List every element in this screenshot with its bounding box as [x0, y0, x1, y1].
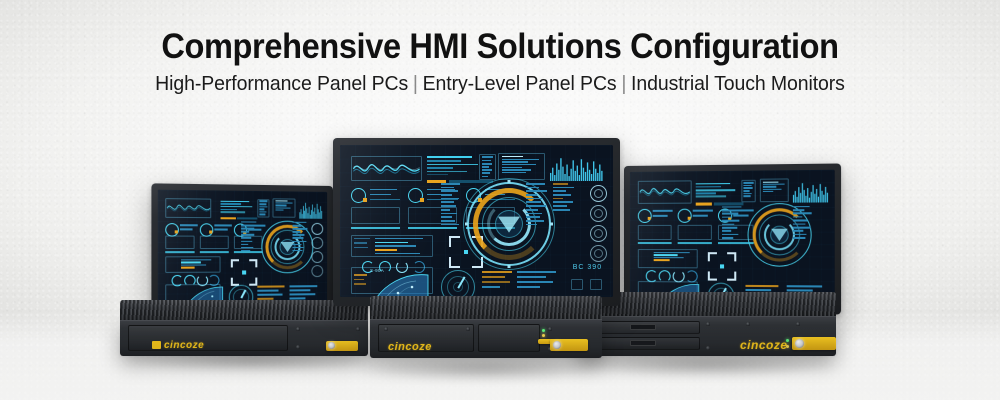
hud-gauge-2 — [200, 223, 229, 233]
left-panel-pc-chassis[interactable]: cincoze — [120, 300, 368, 356]
screw — [384, 327, 388, 331]
center-monitor-bezel: S-90A — [333, 138, 620, 306]
left-monitor-bezel — [151, 183, 333, 312]
left-monitor[interactable] — [151, 183, 333, 312]
page-subtitle: High-Performance Panel PCs|Entry-Level P… — [25, 72, 975, 96]
hud-dashboard-right — [630, 170, 835, 307]
page-title: Comprehensive HMI Solutions Configuratio… — [35, 28, 965, 65]
hud-bar-cluster-center — [427, 156, 479, 176]
center-front-face: cincoze — [370, 319, 602, 358]
shadow-center — [358, 356, 608, 382]
hud-icon-button-b[interactable] — [590, 279, 602, 290]
hud-bottom-table-center-b — [517, 271, 558, 288]
left-power-button[interactable] — [328, 342, 335, 349]
hud-waveform-panel — [165, 198, 212, 218]
screw — [548, 327, 552, 331]
hud-waveform-panel-right — [638, 181, 692, 204]
hud-donut-row — [172, 275, 227, 285]
hud-sector-plot-center — [370, 273, 432, 297]
center-heatsink-fins — [370, 296, 602, 321]
screw — [746, 322, 750, 326]
hud-compass-center — [441, 270, 475, 297]
hud-histogram-center — [550, 154, 605, 181]
hud-data-column-center-right — [526, 183, 548, 225]
status-led-power — [786, 339, 789, 342]
hud-gauge-1 — [165, 223, 195, 233]
hud-data-column-center-left — [441, 183, 460, 225]
hud-crosshair-icon — [231, 259, 258, 286]
right-front-face: cincoze — [578, 316, 836, 356]
status-led-activity — [786, 345, 789, 348]
hud-crosshair-icon-right — [708, 252, 736, 281]
hud-module-code: BC 390 — [573, 264, 602, 271]
screw — [296, 345, 300, 349]
center-monitor[interactable]: S-90A — [333, 138, 620, 306]
cincoze-logo-left: cincoze — [164, 340, 204, 351]
hud-side-control-buttons[interactable] — [590, 185, 608, 261]
center-status-led-power — [542, 329, 545, 332]
cincoze-logo-center: cincoze — [388, 341, 432, 353]
promo-banner: Comprehensive HMI Solutions Configuratio… — [0, 0, 1000, 400]
cincoze-logo-right: cincoze — [740, 338, 788, 352]
screw — [706, 322, 710, 326]
hud-dashboard-center: S-90A — [340, 145, 613, 297]
hud-data-column-left — [241, 221, 256, 251]
center-monitor-screen[interactable]: S-90A — [340, 145, 613, 297]
screw — [796, 322, 800, 326]
right-monitor-screen[interactable] — [630, 170, 835, 307]
hud-amber-progress — [220, 217, 235, 220]
subtitle-separator-1: | — [408, 72, 422, 95]
left-heatsink-fins — [120, 300, 368, 322]
hud-histogram — [299, 199, 322, 218]
header-block: Comprehensive HMI Solutions Configuratio… — [0, 28, 1000, 96]
screw — [356, 327, 360, 331]
waveform-icon — [166, 199, 211, 217]
right-power-button[interactable] — [795, 339, 804, 348]
center-status-led-activity — [542, 334, 545, 337]
hud-waveform-panel-center — [351, 156, 422, 182]
hud-bottom-table-center-a — [482, 271, 512, 288]
right-bay-port-2[interactable] — [630, 340, 656, 346]
hud-gauge-block-1 — [351, 188, 400, 203]
hud-icon-button-a[interactable] — [571, 279, 583, 290]
subtitle-separator-2: | — [617, 72, 631, 95]
left-front-face: cincoze — [120, 320, 368, 356]
hud-gauge-2-right — [678, 209, 712, 221]
subtitle-part-1: High-Performance Panel PCs — [155, 72, 408, 95]
left-monitor-screen[interactable] — [158, 190, 327, 306]
hud-bottom-table-a — [258, 286, 285, 300]
screw — [706, 346, 710, 350]
screw — [296, 327, 300, 331]
hud-gauge-1-right — [638, 209, 672, 221]
hud-data-column-right — [293, 222, 308, 252]
hud-side-buttons[interactable] — [311, 223, 324, 275]
subtitle-part-2: Entry-Level Panel PCs — [423, 72, 617, 95]
hud-dashboard-left — [158, 190, 327, 306]
subtitle-part-3: Industrial Touch Monitors — [631, 72, 845, 95]
center-panel-pc-chassis[interactable]: cincoze — [370, 296, 602, 358]
right-bay-port-1[interactable] — [630, 324, 656, 330]
screw — [466, 327, 470, 331]
center-access-panel-right[interactable] — [478, 324, 540, 352]
hud-bottom-table-b — [289, 285, 319, 299]
center-power-button[interactable] — [553, 341, 561, 349]
hud-bar-cluster — [220, 200, 254, 214]
cincoze-logo-mark — [152, 341, 161, 349]
